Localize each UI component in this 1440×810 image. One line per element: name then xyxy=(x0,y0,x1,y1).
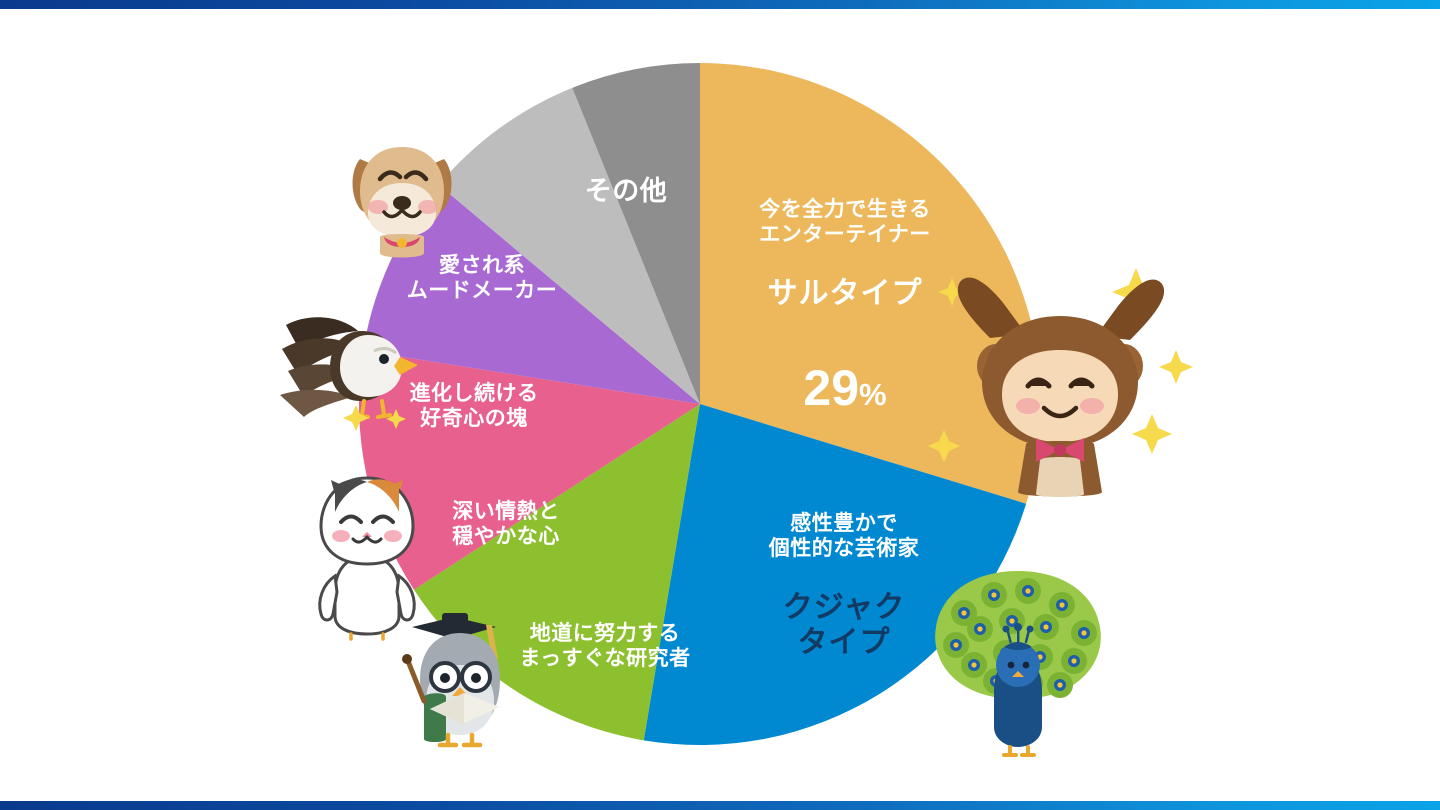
top-accent-bar xyxy=(0,0,1440,9)
monkey-illustration xyxy=(930,254,1210,499)
eagle-illustration xyxy=(278,309,423,429)
bottom-accent-bar xyxy=(0,801,1440,810)
cat-illustration xyxy=(305,464,430,639)
peacock-illustration xyxy=(918,561,1118,761)
slide-canvas: 今を全力で生きる エンターテイナー サルタイプ 29% 感性豊かで 個性的な芸術… xyxy=(0,9,1440,801)
dog-illustration xyxy=(340,137,465,262)
